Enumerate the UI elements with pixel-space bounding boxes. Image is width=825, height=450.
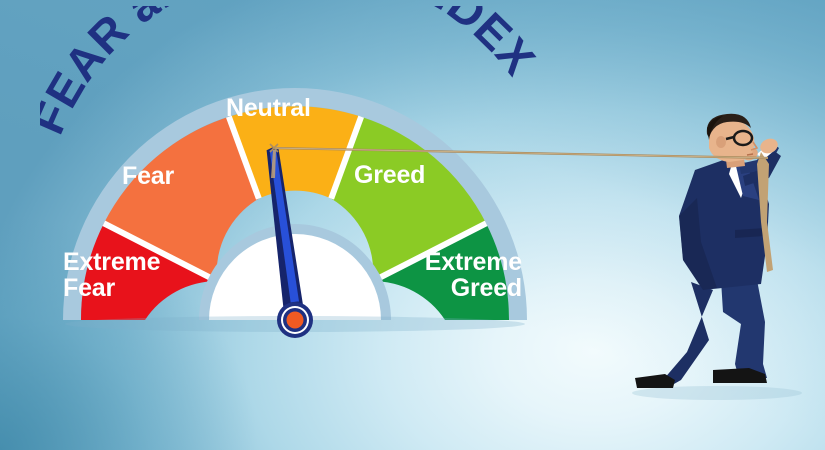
man-ground-shadow bbox=[632, 386, 802, 400]
fear-greed-index-illustration: Extreme Fear Fear Neutral Greed Extreme … bbox=[0, 0, 825, 450]
man-back-leg bbox=[639, 282, 713, 388]
man-mouth bbox=[747, 154, 753, 155]
man-front-leg bbox=[721, 280, 767, 378]
gauge bbox=[63, 88, 527, 320]
businessman-pulling-rope bbox=[617, 112, 822, 402]
man-ear bbox=[716, 136, 726, 148]
gauge-ground-shadow bbox=[65, 316, 525, 332]
